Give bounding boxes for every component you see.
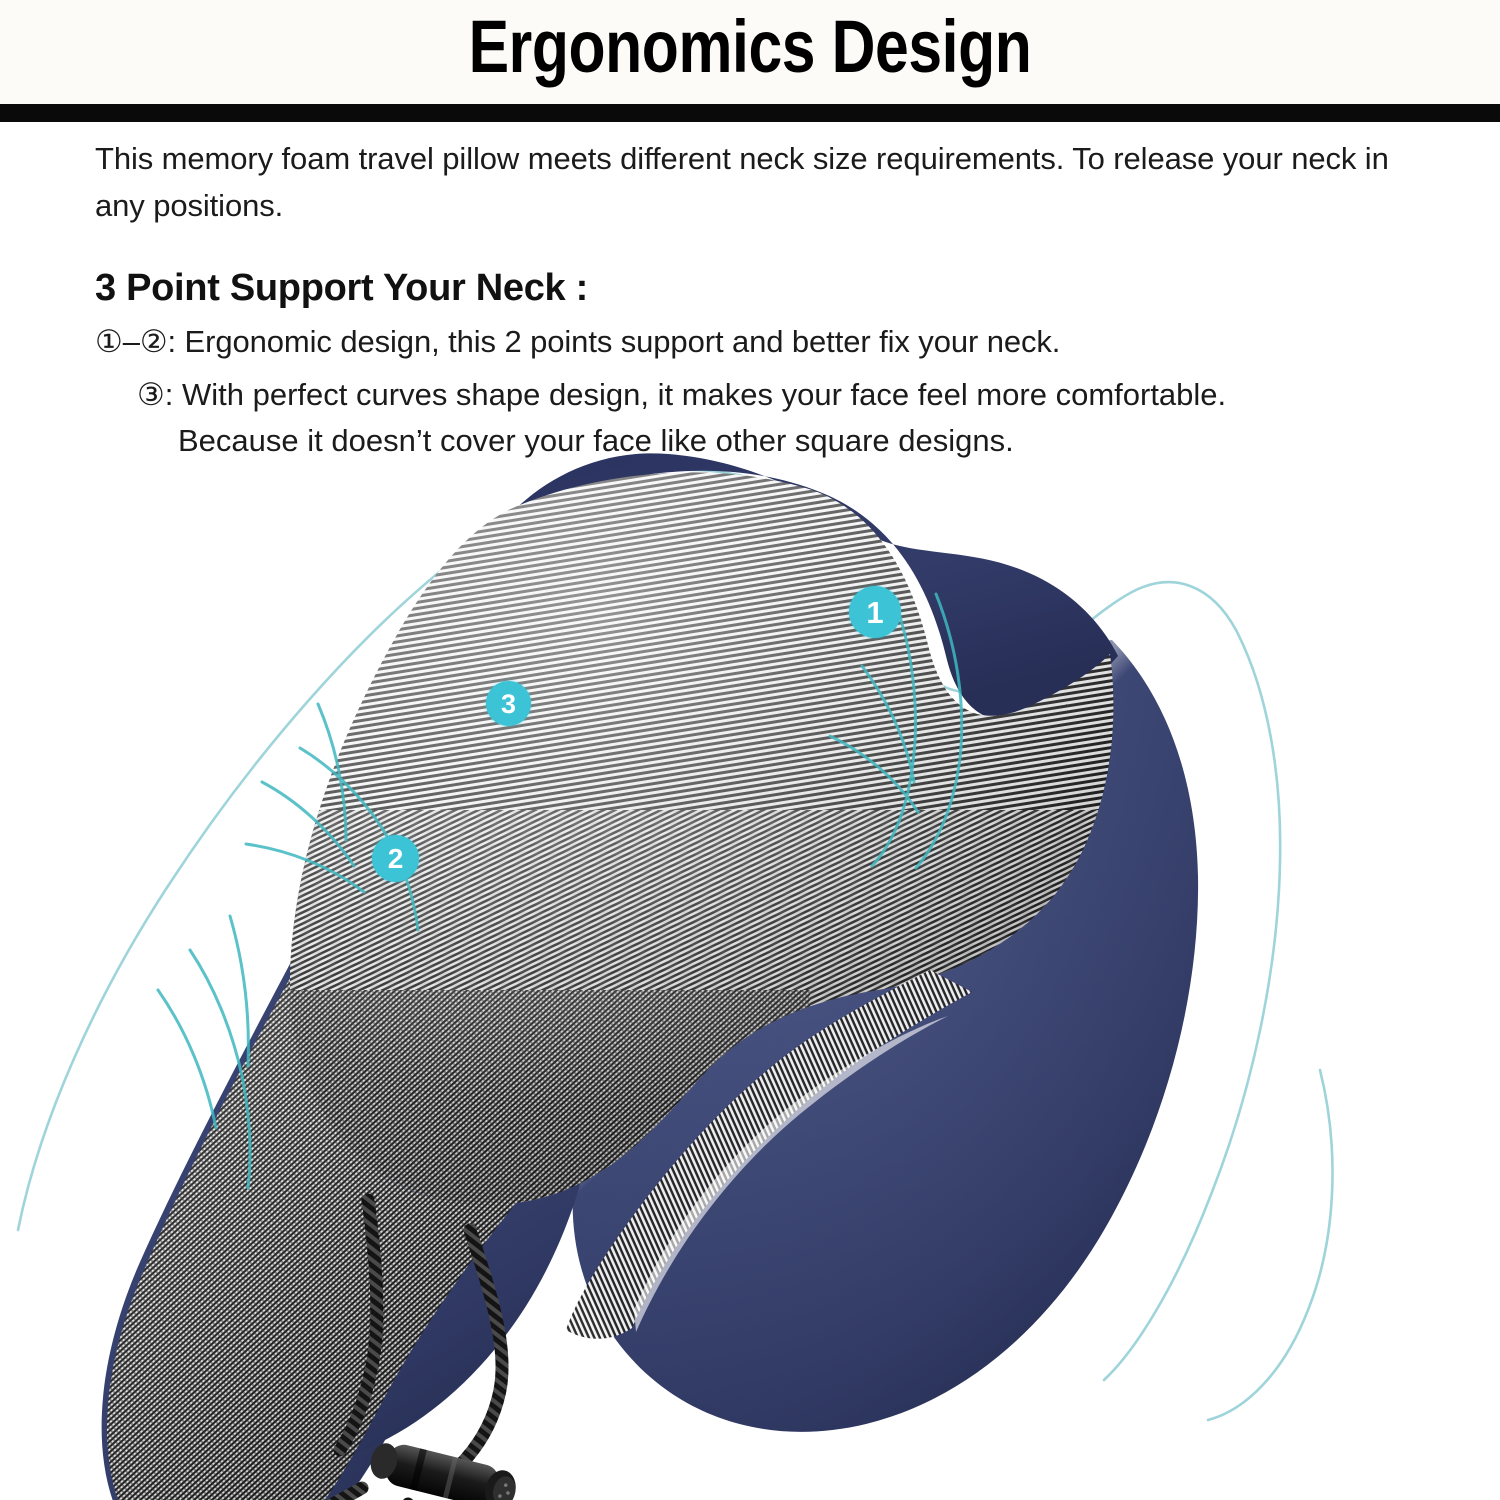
support-point-3-badge[interactable]: 3 (486, 681, 531, 726)
product-infographic-page: Ergonomics Design This memory foam trave… (0, 0, 1500, 1500)
description-block: This memory foam travel pillow meets dif… (95, 135, 1435, 464)
cord-lock-toggle (366, 1437, 520, 1500)
intro-paragraph: This memory foam travel pillow meets dif… (95, 135, 1425, 229)
pillow-illustration (0, 430, 1500, 1500)
support-point-1-badge[interactable]: 1 (849, 586, 901, 638)
support-heading: 3 Point Support Your Neck : (95, 265, 1435, 311)
title-divider-rule (0, 104, 1500, 122)
pillow-svg (0, 430, 1500, 1500)
page-title: Ergonomics Design (135, 4, 1365, 89)
support-point-2-badge[interactable]: 2 (372, 835, 419, 882)
support-point-3-line1: ③: With perfect curves shape design, it … (143, 372, 1435, 418)
support-point-12-text: ①–②: Ergonomic design, this 2 points sup… (95, 320, 1435, 364)
